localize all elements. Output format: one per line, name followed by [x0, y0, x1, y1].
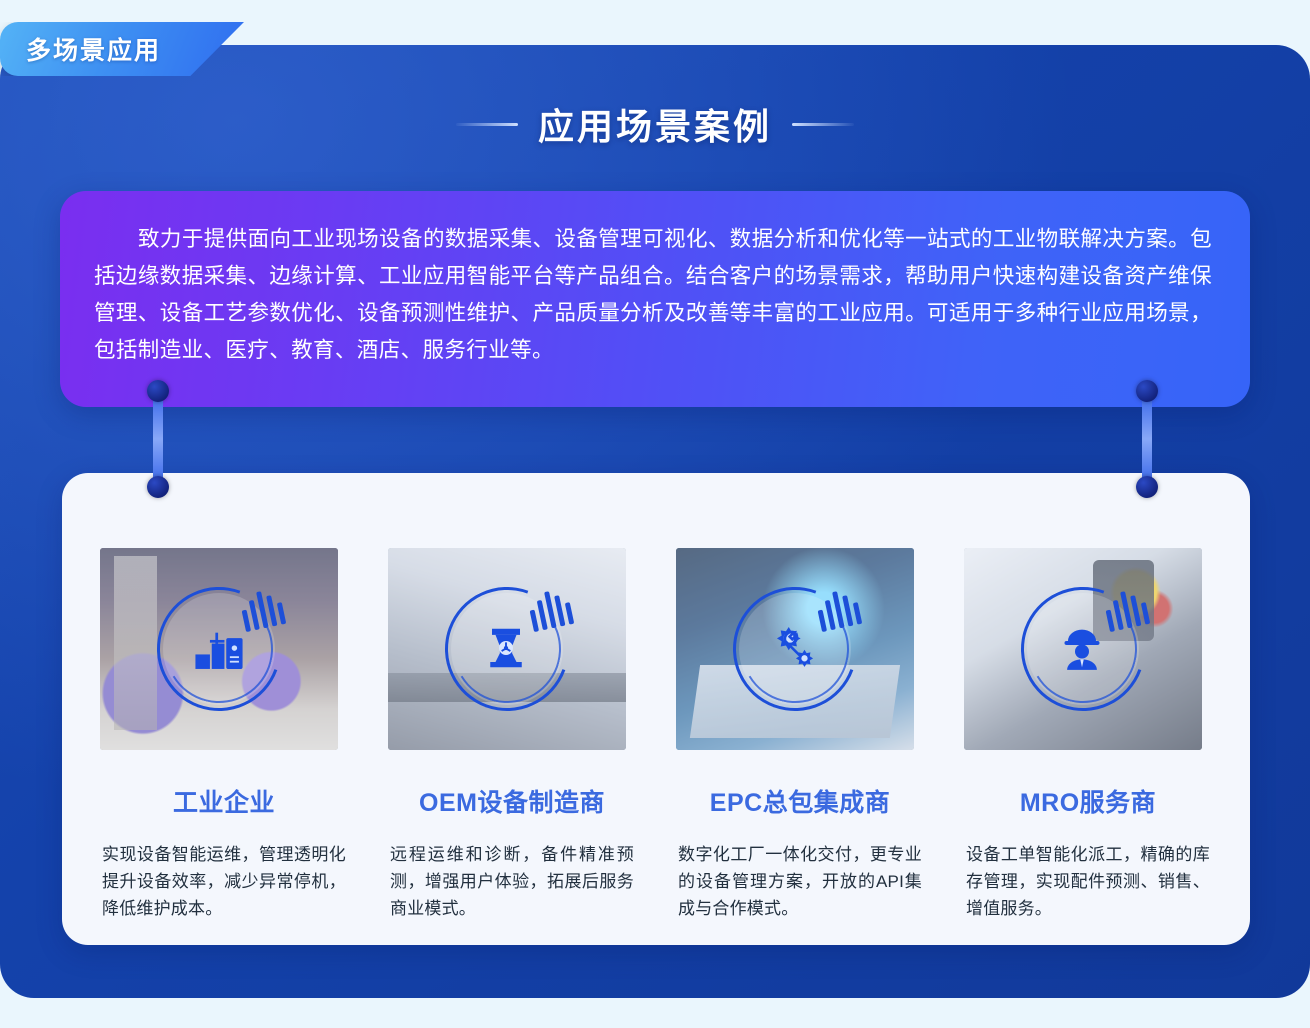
- section-tab: 多场景应用: [0, 22, 244, 76]
- title-rule-left-icon: [456, 123, 518, 126]
- page-title: 应用场景案例: [538, 98, 772, 150]
- cards-row: 工业企业 实现设备智能运维，管理透明化提升设备效率，减少异常停机，降低维护成本。: [62, 473, 1250, 945]
- connector-dot-bottom: [147, 476, 169, 498]
- card-title: MRO服务商: [964, 783, 1212, 819]
- description-card: 致力于提供面向工业现场设备的数据采集、设备管理可视化、数据分析和优化等一站式的工…: [60, 191, 1250, 407]
- tab-label: 多场景应用: [26, 22, 161, 76]
- photo-overlay-veil: [964, 548, 1202, 750]
- card-description: 实现设备智能运维，管理透明化提升设备效率，减少异常停机，降低维护成本。: [100, 841, 348, 922]
- card-title: OEM设备制造商: [388, 783, 636, 819]
- connector-dot-top: [147, 380, 169, 402]
- cards-panel: 工业企业 实现设备智能运维，管理透明化提升设备效率，减少异常停机，降低维护成本。: [62, 473, 1250, 945]
- card-title: EPC总包集成商: [676, 783, 924, 819]
- connector-dot-bottom: [1136, 476, 1158, 498]
- description-text: 致力于提供面向工业现场设备的数据采集、设备管理可视化、数据分析和优化等一站式的工…: [94, 221, 1212, 369]
- card-thumbnail: [676, 548, 914, 750]
- photo-overlay-veil: [676, 548, 914, 750]
- card-title: 工业企业: [100, 783, 348, 819]
- connector-bar: [153, 388, 163, 490]
- card-description: 远程运维和诊断，备件精准预测，增强用户体验，拓展后服务商业模式。: [388, 841, 636, 922]
- card-description: 数字化工厂一体化交付，更专业的设备管理方案，开放的API集成与合作模式。: [676, 841, 924, 922]
- card-thumbnail: [964, 548, 1202, 750]
- scenario-card-industrial[interactable]: 工业企业 实现设备智能运维，管理透明化提升设备效率，减少异常停机，降低维护成本。: [100, 548, 348, 945]
- card-thumbnail: [388, 548, 626, 750]
- connector-bar: [1142, 388, 1152, 490]
- card-description: 设备工单智能化派工，精确的库存管理，实现配件预测、销售、增值服务。: [964, 841, 1212, 922]
- photo-overlay-veil: [100, 548, 338, 750]
- title-rule-right-icon: [792, 123, 854, 126]
- photo-overlay-veil: [388, 548, 626, 750]
- section-title-row: 应用场景案例: [0, 98, 1310, 150]
- scenario-card-mro[interactable]: MRO服务商 设备工单智能化派工，精确的库存管理，实现配件预测、销售、增值服务。: [964, 548, 1212, 945]
- scenario-card-oem[interactable]: OEM设备制造商 远程运维和诊断，备件精准预测，增强用户体验，拓展后服务商业模式…: [388, 548, 636, 945]
- connector-dot-top: [1136, 380, 1158, 402]
- scenario-card-epc[interactable]: EPC总包集成商 数字化工厂一体化交付，更专业的设备管理方案，开放的API集成与…: [676, 548, 924, 945]
- card-thumbnail: [100, 548, 338, 750]
